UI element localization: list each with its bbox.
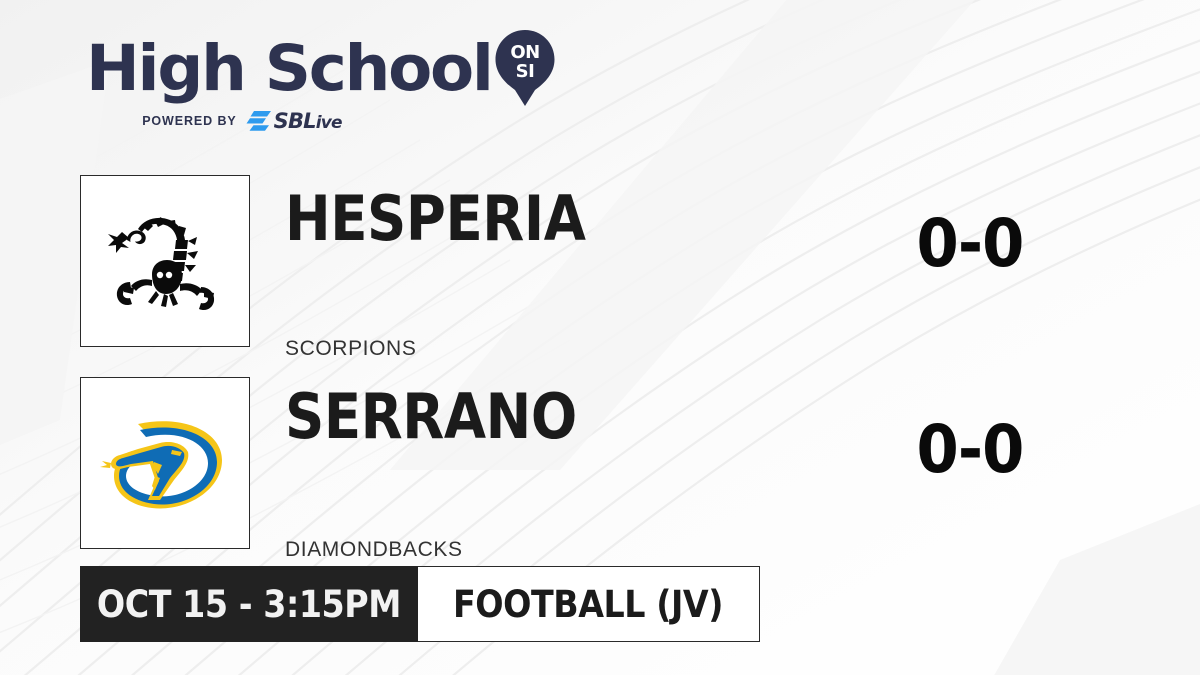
diamondback-d-logo-icon bbox=[98, 408, 232, 518]
powered-by-label: POWERED BY bbox=[142, 114, 236, 128]
team-record-home: 0-0 bbox=[887, 211, 1053, 277]
game-datetime-text: OCT 15 - 3:15PM bbox=[97, 583, 401, 626]
team-mascot-home: SCORPIONS bbox=[285, 337, 416, 361]
team-row-away: SERRANO DIAMONDBACKS 0-0 bbox=[0, 377, 1200, 549]
sblive-logo: SBLive bbox=[246, 110, 342, 132]
powered-by-row: POWERED BY SBLive bbox=[86, 110, 516, 132]
svg-text:SI: SI bbox=[515, 61, 534, 82]
game-sport-chip: FOOTBALL (JV) bbox=[418, 566, 760, 642]
brand-wordmark: High School bbox=[86, 37, 492, 100]
sblive-wordmark: SBLive bbox=[274, 111, 342, 132]
team-name-away: SERRANO bbox=[285, 386, 577, 448]
game-info-bar: OCT 15 - 3:15PM FOOTBALL (JV) bbox=[80, 566, 760, 642]
sblive-lower: ive bbox=[316, 113, 342, 133]
on-si-pin-icon: ON SI bbox=[494, 28, 556, 108]
matchup-graphic: High School ON SI POWERED BY SBLive bbox=[0, 0, 1200, 675]
game-sport-text: FOOTBALL (JV) bbox=[453, 583, 723, 626]
sblive-bolt-icon bbox=[246, 110, 272, 132]
team-logo-box-home[interactable] bbox=[80, 175, 250, 347]
scorpion-logo-icon bbox=[100, 196, 230, 326]
team-logo-box-away[interactable] bbox=[80, 377, 250, 549]
sblive-upper: SBL bbox=[274, 109, 316, 133]
team-row-home: HESPERIA SCORPIONS 0-0 bbox=[0, 175, 1200, 347]
svg-text:ON: ON bbox=[510, 42, 539, 63]
brand-header: High School ON SI POWERED BY SBLive bbox=[86, 32, 516, 137]
team-mascot-away: DIAMONDBACKS bbox=[285, 538, 463, 562]
game-datetime-chip: OCT 15 - 3:15PM bbox=[80, 566, 418, 642]
team-name-home: HESPERIA bbox=[285, 188, 586, 250]
brand-row: High School ON SI bbox=[86, 32, 516, 104]
team-record-away: 0-0 bbox=[887, 417, 1053, 483]
